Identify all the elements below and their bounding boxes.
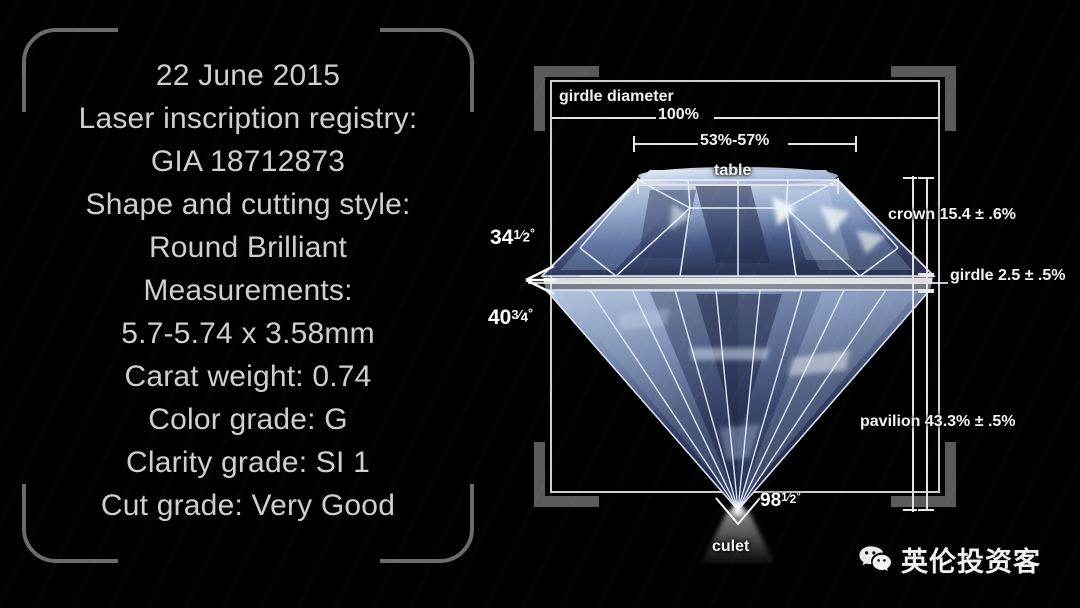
tick-crown-top — [903, 177, 917, 179]
pavilion-angle-numerator: 3 — [511, 307, 518, 322]
angle-arrow-marker — [516, 254, 562, 304]
rule-crown-extent — [926, 178, 928, 274]
tick-pavilion-top — [918, 291, 934, 293]
report-line-laser-label: Laser inscription registry: — [22, 97, 474, 140]
crown-angle-degree: ° — [530, 226, 535, 240]
crown-angle-denominator: 2 — [523, 229, 530, 244]
report-line-clarity: Clarity grade: SI 1 — [22, 441, 474, 484]
frame-gap-top — [118, 22, 380, 38]
wechat-watermark: 英伦投资客 — [858, 540, 1041, 579]
report-line-color: Color grade: G — [22, 398, 474, 441]
crown-angle-numerator: 1 — [513, 227, 520, 242]
tick-table-width-left — [637, 178, 639, 194]
rule-girdle-extent — [926, 276, 928, 290]
label-pavilion-angle: 403⁄4° — [488, 306, 533, 330]
pavilion-angle-denominator: 4 — [521, 309, 528, 324]
tick-crown-bracket-top — [918, 177, 934, 179]
label-girdle-diameter: girdle diameter — [556, 88, 677, 106]
rule-pavilion-extent — [926, 292, 928, 510]
frame-gap-bottom — [118, 553, 380, 569]
label-pavilion: pavilion 43.3% ± .5% — [860, 413, 1016, 431]
crown-angle-fraction: 1⁄2 — [513, 227, 530, 242]
label-total-width: 100% — [658, 106, 699, 124]
culet-angle-degree: ° — [796, 491, 801, 503]
tick-table-width-right — [837, 178, 839, 194]
label-crown-angle: 341⁄2° — [490, 226, 535, 250]
report-line-carat: Carat weight: 0.74 — [22, 355, 474, 398]
label-culet: culet — [712, 538, 749, 556]
report-text-block: 22 June 2015 Laser inscription registry:… — [22, 54, 474, 527]
label-table-range: 53%-57% — [700, 132, 769, 150]
pavilion-angle-degree: ° — [528, 306, 533, 320]
diamond-report-panel: 22 June 2015 Laser inscription registry:… — [22, 28, 474, 563]
report-line-shape-label: Shape and cutting style: — [22, 183, 474, 226]
tick-pavilion-bottom — [918, 509, 934, 511]
tick-girdle-top — [918, 275, 934, 277]
rule-table-width — [638, 184, 838, 186]
rule-100pct-left — [552, 117, 656, 119]
watermark-text: 英伦投资客 — [901, 540, 1041, 579]
crown-angle-value: 34 — [490, 226, 513, 249]
screenshot-stage: 22 June 2015 Laser inscription registry:… — [0, 0, 1080, 608]
rule-table-range-right — [788, 143, 856, 145]
report-line-cut: Cut grade: Very Good — [22, 484, 474, 527]
culet-angle-numerator: 1 — [781, 491, 788, 504]
report-line-date: 22 June 2015 — [22, 54, 474, 97]
pavilion-angle-value: 40 — [488, 306, 511, 329]
label-crown: crown 15.4 ± .6% — [888, 206, 1016, 224]
culet-angle-value: 98 — [760, 490, 781, 511]
culet-angle-fraction: 1⁄2 — [781, 491, 796, 504]
label-table: table — [714, 162, 751, 180]
label-girdle: girdle 2.5 ± .5% — [950, 267, 1066, 285]
report-line-meas-label: Measurements: — [22, 269, 474, 312]
report-line-gia-number: GIA 18712873 — [22, 140, 474, 183]
tick-table-range-right — [855, 136, 857, 152]
tick-vertical-bottom — [903, 509, 917, 511]
diamond-proportion-diagram: girdle diameter 100% 53%-57% table crown… — [520, 58, 970, 563]
tick-table-range-left — [633, 136, 635, 152]
pavilion-angle-fraction: 3⁄4 — [511, 307, 528, 322]
report-line-shape-value: Round Brilliant — [22, 226, 474, 269]
rule-vertical-main — [912, 176, 914, 512]
label-culet-angle: 981⁄2° — [760, 490, 801, 512]
report-line-meas-value: 5.7-5.74 x 3.58mm — [22, 312, 474, 355]
rule-table-range-left — [634, 143, 698, 145]
rule-100pct-right — [714, 117, 938, 119]
wechat-icon — [858, 545, 892, 575]
